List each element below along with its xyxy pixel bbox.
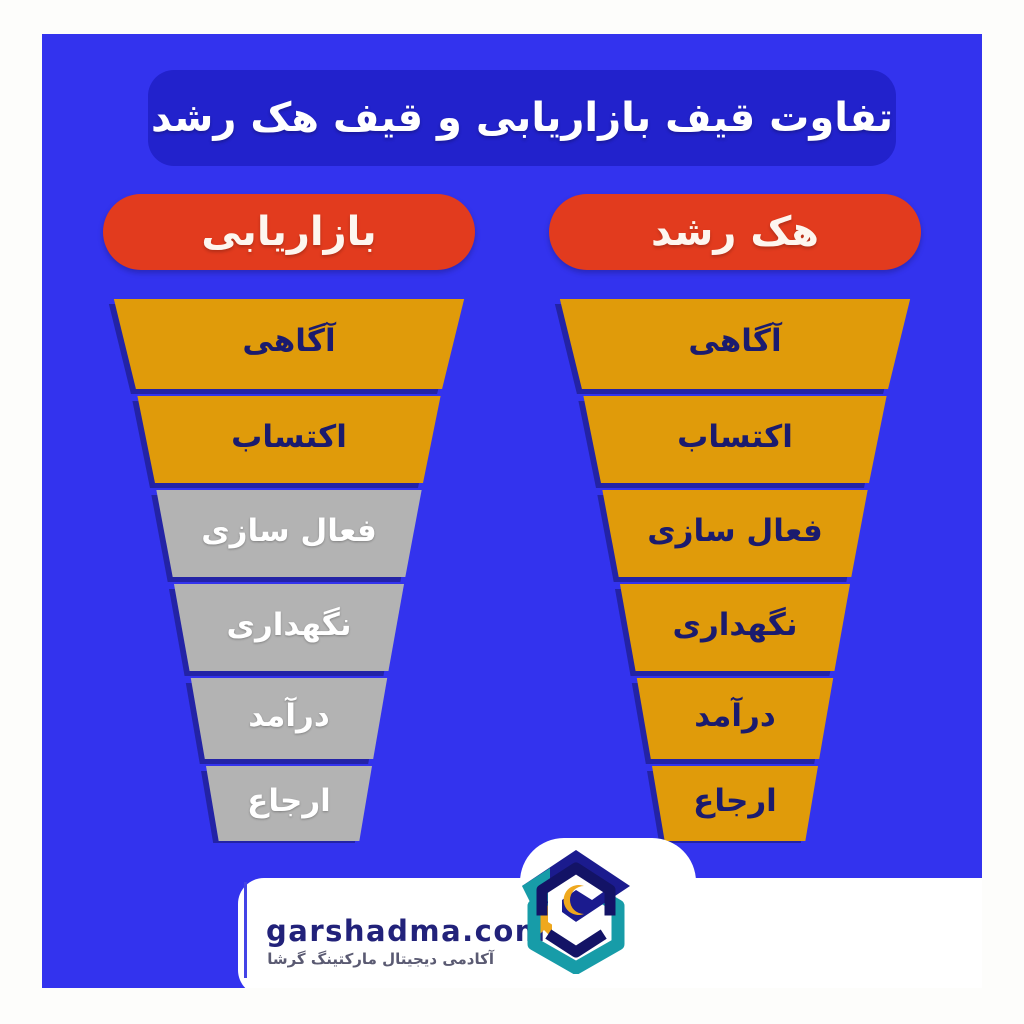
brand-subtitle: آکادمی دیجیتال مارکتینگ گرشا — [266, 950, 494, 968]
graduation-cap-logo — [506, 834, 646, 974]
funnel-comparison: هک رشد آگاهیاکتسابفعال سازینگهداریدرآمدا… — [42, 194, 982, 854]
funnel-marketing: بازاریابی آگاهیاکتسابفعال سازینگهداریدرآ… — [87, 194, 491, 854]
graduation-cap-logo-icon — [506, 834, 646, 974]
brand-domain: garshadma.com — [266, 916, 547, 946]
funnel-body-growth-hacking: آگاهیاکتسابفعال سازینگهداریدرآمدارجاع — [533, 297, 937, 843]
funnel-segment[interactable] — [652, 766, 818, 841]
funnel-growth-hacking: هک رشد آگاهیاکتسابفعال سازینگهداریدرآمدا… — [533, 194, 937, 854]
page-title: تفاوت قیف بازاریابی و قیف هک رشد — [151, 95, 893, 141]
funnel-segment[interactable] — [137, 396, 440, 483]
brand-block[interactable]: garshadma.com آکادمی دیجیتال مارکتینگ گر… — [266, 916, 547, 968]
funnel-heading-label: بازاریابی — [201, 209, 376, 255]
footer-content: garshadma.com آکادمی دیجیتال مارکتینگ گر… — [238, 880, 982, 984]
funnel-segment[interactable] — [156, 490, 421, 577]
course-line-1: دوره آموزشی — [778, 883, 968, 911]
funnel-body-marketing: آگاهیاکتسابفعال سازینگهداریدرآمدارجاع — [87, 297, 491, 843]
poster-root: تفاوت قیف بازاریابی و قیف هک رشد هک رشد … — [0, 0, 1024, 1024]
funnel-segment[interactable] — [174, 584, 404, 671]
funnel-segment[interactable] — [114, 299, 464, 389]
funnel-shape-growth-hacking — [533, 297, 937, 843]
course-block: دوره آموزشی هـــک رشـــد — [778, 883, 968, 938]
funnel-segment[interactable] — [637, 678, 833, 759]
course-line-2: هـــک رشـــد — [778, 910, 968, 938]
footer: garshadma.com آکادمی دیجیتال مارکتینگ گر… — [42, 838, 982, 988]
title-banner: تفاوت قیف بازاریابی و قیف هک رشد — [148, 70, 896, 166]
funnel-segment[interactable] — [602, 490, 867, 577]
funnel-segment[interactable] — [191, 678, 387, 759]
funnel-heading-label: هک رشد — [651, 209, 819, 255]
footer-divider — [244, 882, 247, 978]
funnel-segment[interactable] — [206, 766, 372, 841]
infographic-card: تفاوت قیف بازاریابی و قیف هک رشد هک رشد … — [42, 34, 982, 988]
funnel-segment[interactable] — [583, 396, 886, 483]
funnel-segment[interactable] — [620, 584, 850, 671]
funnel-shape-marketing — [87, 297, 491, 843]
funnel-heading-pill-growth-hacking[interactable]: هک رشد — [549, 194, 921, 270]
funnel-heading-pill-marketing[interactable]: بازاریابی — [103, 194, 475, 270]
funnel-segment[interactable] — [560, 299, 910, 389]
